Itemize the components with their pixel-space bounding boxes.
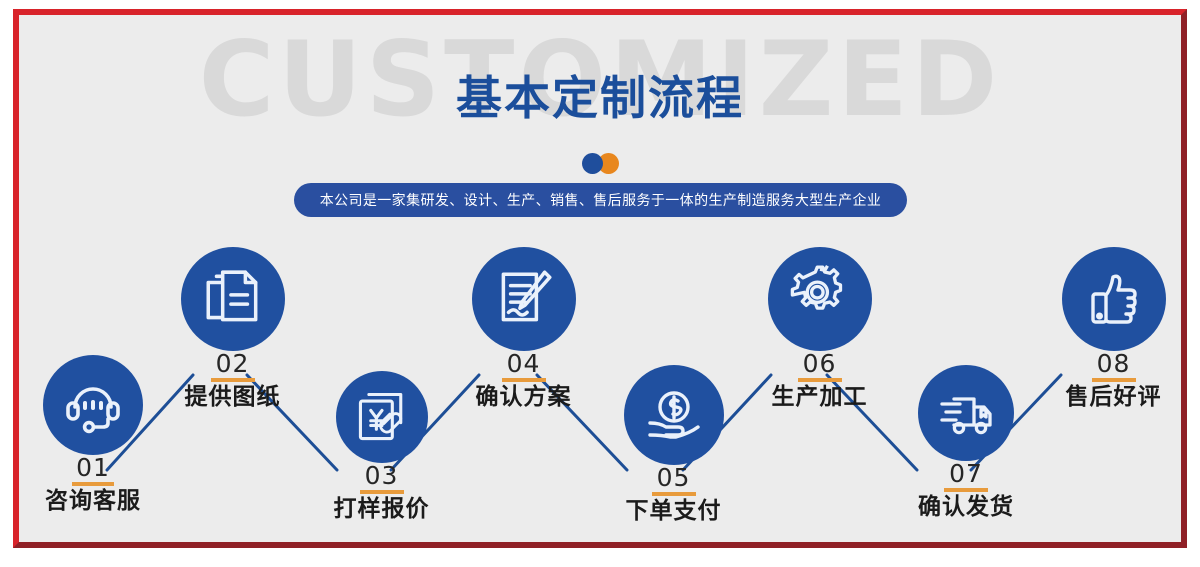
infographic-canvas: CUSTOMIZED 基本定制流程 本公司是一家集研发、设计、生产、销售、售后服… xyxy=(0,0,1200,567)
gear-icon xyxy=(786,265,854,333)
headset-icon xyxy=(61,373,125,437)
quote-paperclip-icon xyxy=(352,387,412,447)
step-05-number: 05 xyxy=(601,465,746,491)
hand-coin-icon xyxy=(642,383,706,447)
step-07-circle[interactable] xyxy=(918,365,1014,461)
documents-icon xyxy=(200,266,266,332)
step-01-label: 咨询客服 xyxy=(23,489,163,513)
delivery-truck-icon xyxy=(934,381,998,445)
step-07-label: 确认发货 xyxy=(891,495,1041,519)
step-08-number: 08 xyxy=(1041,351,1181,377)
flow-step-02[interactable]: 02 提供图纸 xyxy=(160,247,305,409)
contract-pen-icon xyxy=(491,266,557,332)
step-02-label: 提供图纸 xyxy=(160,385,305,409)
step-04-number: 04 xyxy=(451,351,596,377)
step-02-circle[interactable] xyxy=(181,247,285,351)
flow-step-03[interactable]: 03 打样报价 xyxy=(309,371,454,521)
thumbs-up-icon xyxy=(1082,267,1146,331)
step-08-label: 售后好评 xyxy=(1041,385,1181,409)
step-01-number-underline xyxy=(72,482,114,486)
step-06-number-underline xyxy=(798,378,842,382)
step-04-circle[interactable] xyxy=(472,247,576,351)
step-05-circle[interactable] xyxy=(624,365,724,465)
step-05-label: 下单支付 xyxy=(601,499,746,523)
flow-step-01[interactable]: 01 咨询客服 xyxy=(23,355,163,513)
dot-blue-icon xyxy=(582,153,603,174)
content-area: CUSTOMIZED 基本定制流程 本公司是一家集研发、设计、生产、销售、售后服… xyxy=(19,15,1181,542)
step-06-number: 06 xyxy=(747,351,892,377)
step-03-number: 03 xyxy=(309,463,454,489)
step-08-number-underline xyxy=(1092,378,1136,382)
flow-step-08[interactable]: 08 售后好评 xyxy=(1041,247,1181,409)
flow-step-07[interactable]: 07 确认发货 xyxy=(891,365,1041,519)
flow-step-05[interactable]: 05 下单支付 xyxy=(601,365,746,523)
step-06-circle[interactable] xyxy=(768,247,872,351)
step-03-label: 打样报价 xyxy=(309,497,454,521)
step-01-circle[interactable] xyxy=(43,355,143,455)
step-07-number: 07 xyxy=(891,461,1041,487)
step-02-number-underline xyxy=(211,378,255,382)
step-04-label: 确认方案 xyxy=(451,385,596,409)
step-04-number-underline xyxy=(502,378,546,382)
step-03-circle[interactable] xyxy=(336,371,428,463)
step-07-number-underline xyxy=(944,488,988,492)
step-01-number: 01 xyxy=(23,455,163,481)
step-02-number: 02 xyxy=(160,351,305,377)
flow-step-04[interactable]: 04 确认方案 xyxy=(451,247,596,409)
step-08-circle[interactable] xyxy=(1062,247,1166,351)
step-05-number-underline xyxy=(652,492,696,496)
step-06-label: 生产加工 xyxy=(747,385,892,409)
flow-step-06[interactable]: 06 生产加工 xyxy=(747,247,892,409)
step-03-number-underline xyxy=(360,490,404,494)
